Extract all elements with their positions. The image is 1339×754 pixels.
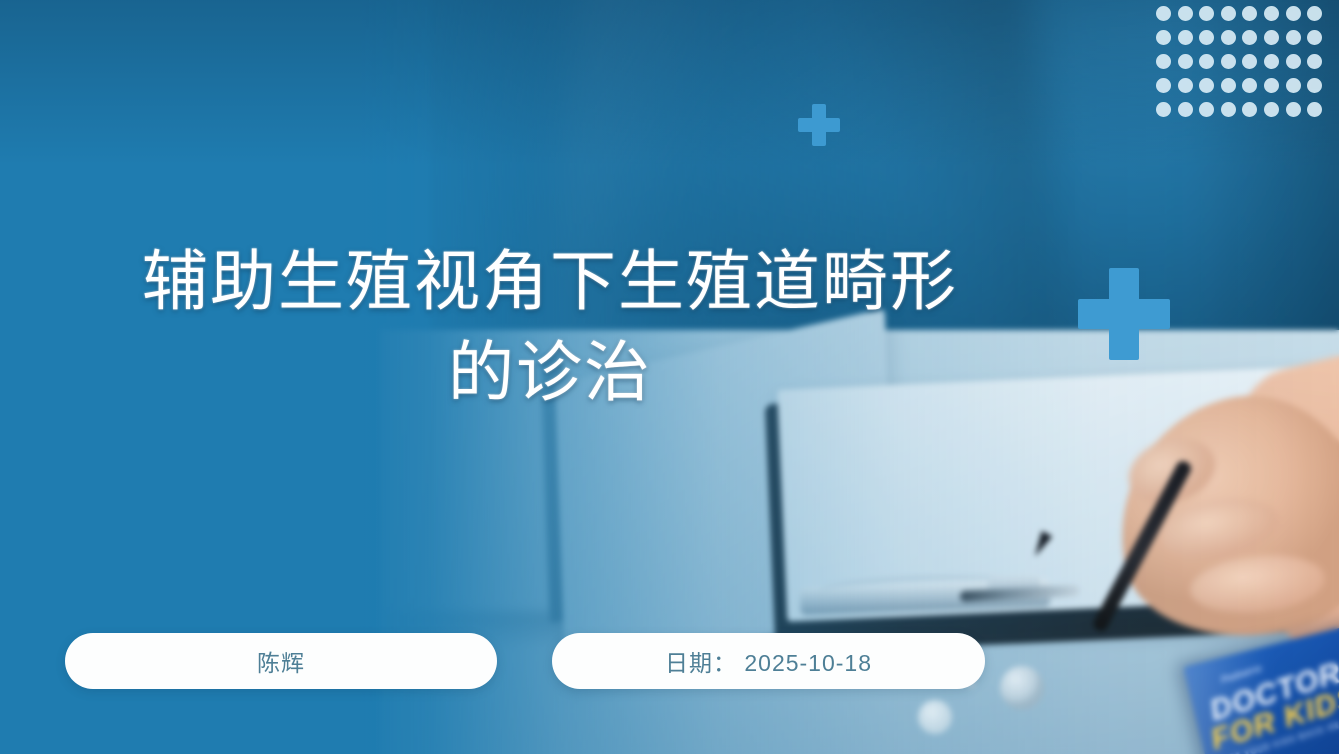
grid-dot: [1156, 102, 1171, 117]
title-slide: Pediatric DOCTOR FOR KIDS GET YOUR KIDS …: [0, 0, 1339, 754]
grid-dot: [1221, 30, 1236, 45]
grid-dot: [1199, 30, 1214, 45]
grid-dot: [1286, 6, 1301, 21]
grid-dot: [1242, 102, 1257, 117]
grid-dot: [1221, 6, 1236, 21]
grid-dot: [1178, 78, 1193, 93]
grid-dot: [1307, 78, 1322, 93]
grid-dot: [1307, 30, 1322, 45]
grid-dot: [1178, 54, 1193, 69]
grid-dot: [1178, 30, 1193, 45]
presenter-pill[interactable]: 陈辉: [65, 633, 497, 689]
grid-dot: [1307, 54, 1322, 69]
grid-dot: [1156, 78, 1171, 93]
grid-dot: [1264, 78, 1279, 93]
grid-dot: [1264, 102, 1279, 117]
title-line-1: 辅助生殖视角下生殖道畸形: [60, 236, 1040, 327]
grid-dot: [1199, 102, 1214, 117]
presenter-name: 陈辉: [257, 644, 305, 678]
grid-dot: [1242, 30, 1257, 45]
grid-dot: [1264, 6, 1279, 21]
grid-dot: [1178, 6, 1193, 21]
grid-dot: [1307, 102, 1322, 117]
date-pill[interactable]: 日期： 2025-10-18: [552, 633, 985, 689]
grid-dot: [1242, 54, 1257, 69]
grid-dot: [1264, 30, 1279, 45]
grid-dot: [1178, 102, 1193, 117]
dot-grid-decoration: [1156, 6, 1329, 126]
date-text: 日期： 2025-10-18: [665, 644, 872, 678]
grid-dot: [1242, 6, 1257, 21]
page-title: 辅助生殖视角下生殖道畸形 的诊治: [60, 236, 1040, 418]
grid-dot: [1221, 102, 1236, 117]
grid-dot: [1221, 78, 1236, 93]
grid-dot: [1286, 78, 1301, 93]
grid-dot: [1264, 54, 1279, 69]
grid-dot: [1286, 30, 1301, 45]
grid-dot: [1199, 6, 1214, 21]
grid-dot: [1156, 6, 1171, 21]
grid-dot: [1286, 54, 1301, 69]
grid-dot: [1156, 30, 1171, 45]
medical-cross-small-icon: [798, 104, 840, 146]
grid-dot: [1242, 78, 1257, 93]
medical-cross-large-icon: [1078, 268, 1170, 360]
title-line-2: 的诊治: [60, 327, 1040, 418]
grid-dot: [1286, 102, 1301, 117]
grid-dot: [1307, 6, 1322, 21]
grid-dot: [1156, 54, 1171, 69]
grid-dot: [1199, 54, 1214, 69]
grid-dot: [1221, 54, 1236, 69]
grid-dot: [1199, 78, 1214, 93]
